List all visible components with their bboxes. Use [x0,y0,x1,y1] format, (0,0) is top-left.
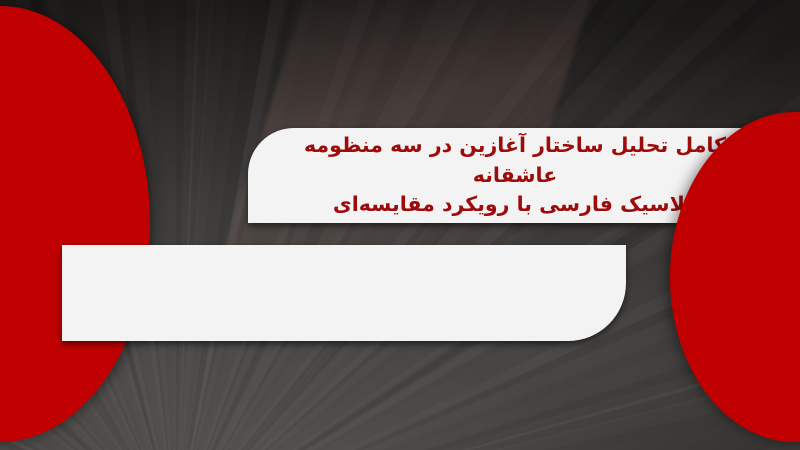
presentation-slide: کامل تحلیل ساختار آغازین در سه منظومه عا… [0,0,800,450]
white-subtitle-panel [62,245,626,341]
